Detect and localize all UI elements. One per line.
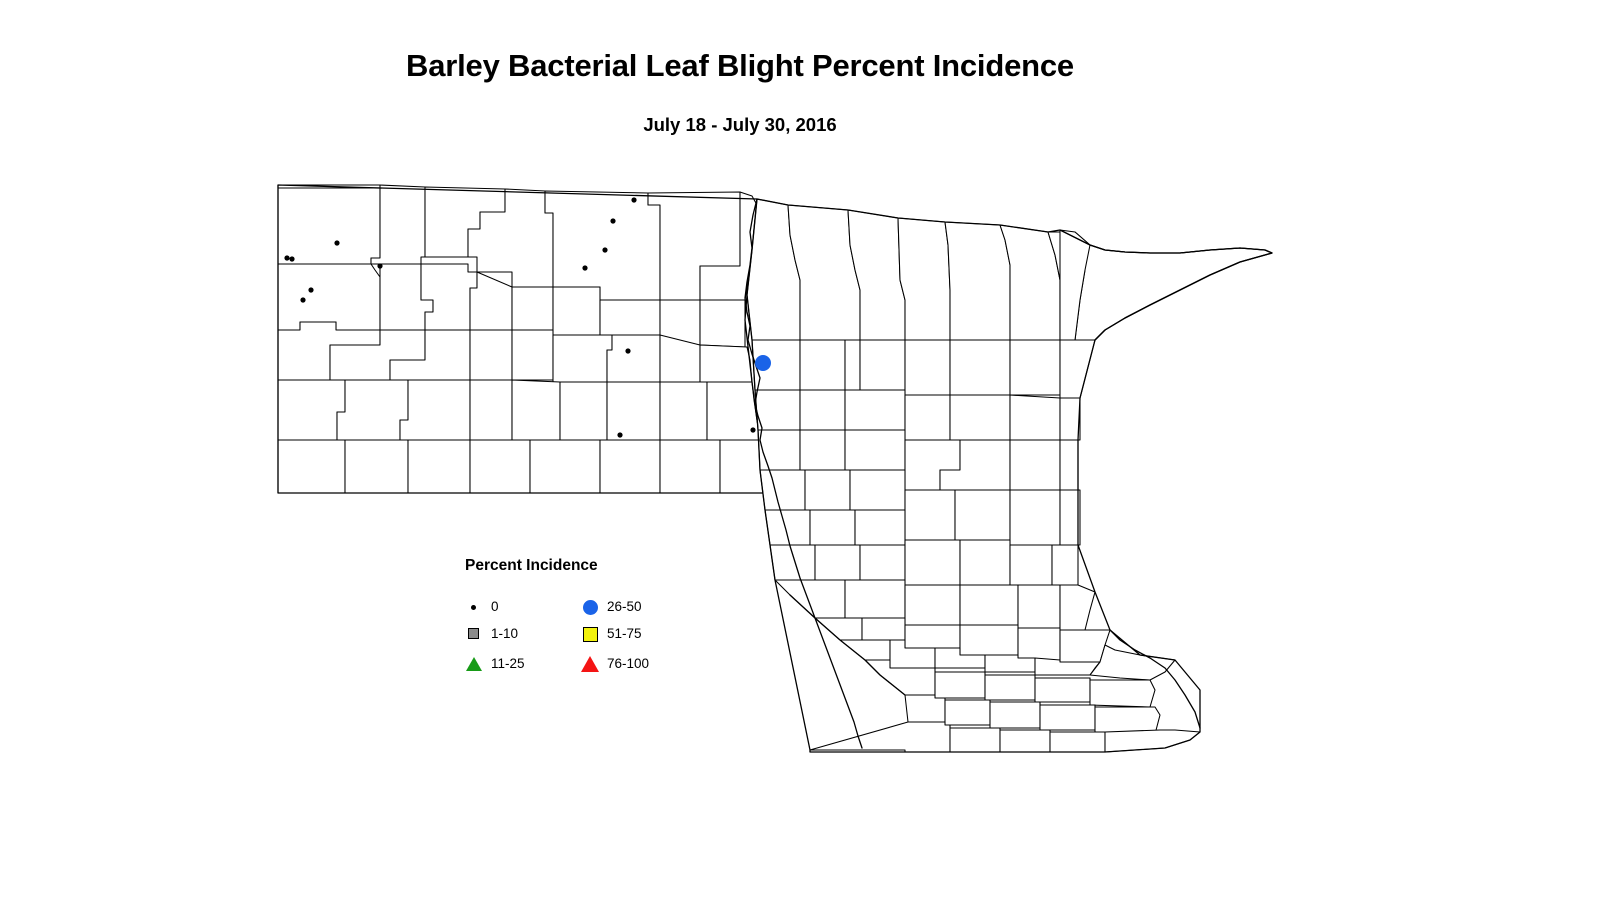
map-point-0 <box>289 256 294 261</box>
map-point-0 <box>610 218 615 223</box>
county-map <box>0 0 1612 900</box>
map-point-0 <box>625 348 630 353</box>
map-point-0 <box>377 263 382 268</box>
map-point-0 <box>300 297 305 302</box>
legend-label-11-25: 11-25 <box>491 654 525 674</box>
map-point-26-50 <box>755 355 771 371</box>
map-point-0 <box>617 432 622 437</box>
map-point-0 <box>284 255 289 260</box>
legend-symbol-grey-square <box>465 624 485 644</box>
map-point-0 <box>334 240 339 245</box>
legend-symbol-green-triangle <box>465 654 485 674</box>
legend-title: Percent Incidence <box>465 557 598 575</box>
north-dakota-counties <box>278 185 775 493</box>
legend-label-26-50: 26-50 <box>607 597 642 617</box>
legend-symbol-red-triangle <box>581 654 601 674</box>
legend-symbol-blue-circle <box>581 597 601 617</box>
legend-label-0: 0 <box>491 597 499 617</box>
map-point-0 <box>750 427 755 432</box>
map-page: Barley Bacterial Leaf Blight Percent Inc… <box>0 0 1612 900</box>
legend-symbol-yellow-square <box>581 624 601 644</box>
legend-symbol-small-black-dot <box>465 597 485 617</box>
map-point-0 <box>602 247 607 252</box>
map-legend: Percent Incidence 0 1-10 11-25 26-50 51-… <box>455 552 715 682</box>
legend-label-1-10: 1-10 <box>491 624 518 644</box>
map-point-0 <box>308 287 313 292</box>
map-point-0 <box>582 265 587 270</box>
minnesota-counties <box>747 199 1272 752</box>
map-point-0 <box>631 197 636 202</box>
legend-label-76-100: 76-100 <box>607 654 649 674</box>
legend-label-51-75: 51-75 <box>607 624 642 644</box>
